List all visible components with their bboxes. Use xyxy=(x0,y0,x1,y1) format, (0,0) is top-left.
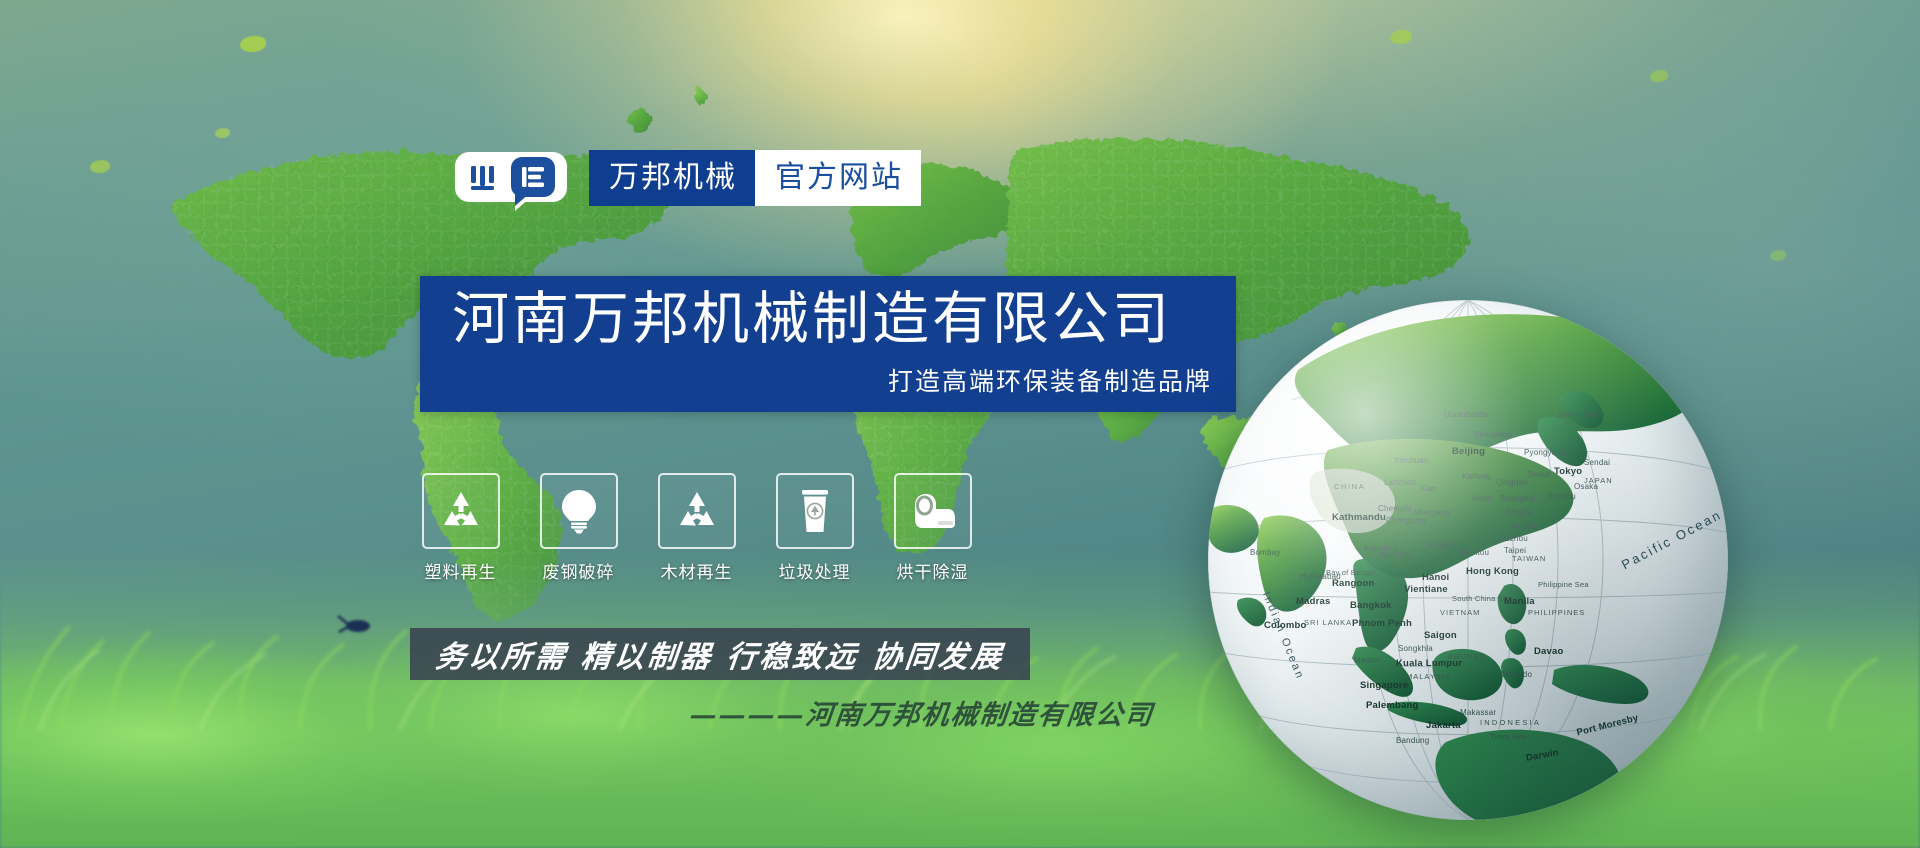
globe-label-malaysia: MALAYSIA xyxy=(1406,672,1451,681)
globe-city-label: Pyongyang xyxy=(1524,448,1566,457)
globe-city-label: Osaka xyxy=(1574,482,1598,491)
service-label: 垃圾处理 xyxy=(772,558,857,583)
globe-city-label: Hong Kong xyxy=(1466,566,1519,577)
globe-city-label: Hanoi xyxy=(1422,572,1449,583)
slogan-attribution: ————河南万邦机械制造有限公司 xyxy=(688,693,1156,732)
service-item-drying-dehumidify[interactable]: 烘干除湿 xyxy=(890,473,975,583)
globe-city-label: Xian xyxy=(1420,484,1437,493)
globe-city-label: Yinchuan xyxy=(1394,456,1429,465)
globe-city-label: Makassar xyxy=(1460,708,1496,717)
globe-city-label: Bandung xyxy=(1396,736,1429,745)
slogan-text: 务以所需 精以制器 行稳致远 协同发展 xyxy=(434,632,1007,676)
globe-label-vietnam: VIETNAM xyxy=(1440,608,1480,617)
globe-city-label: Guiyang xyxy=(1426,540,1457,549)
globe-city-label: Kathmandu xyxy=(1332,512,1386,523)
service-label: 烘干除湿 xyxy=(890,558,975,583)
globe-city-label: Kaifeng xyxy=(1462,472,1491,481)
service-label: 木材再生 xyxy=(654,558,739,583)
slogan-bar: 务以所需 精以制器 行稳致远 协同发展 xyxy=(410,628,1030,680)
globe-graphic: Pacific Ocean Indian Ocean South China S… xyxy=(1208,300,1728,820)
globe-city-label: Chongqing xyxy=(1386,516,1427,525)
globe-city-label: Saigon xyxy=(1424,630,1457,641)
globe-city-label: Seoul xyxy=(1528,470,1549,479)
grass-bug xyxy=(336,614,376,636)
official-site-label[interactable]: 官方网站 xyxy=(755,150,921,206)
hero-banner-page: 万邦机械 官方网站 河南万邦机械制造有限公司 打造高端环保装备制造品牌 塑料再生 xyxy=(0,0,1920,848)
globe-city-label: Qingdao xyxy=(1496,478,1528,487)
globe-city-label: Vientiane xyxy=(1404,584,1448,595)
globe-label-sri-lanka: SRI LANKA xyxy=(1304,618,1352,627)
service-item-wood-recycling[interactable]: 木材再生 xyxy=(654,473,739,583)
globe-label-south-china-sea: South China Sea xyxy=(1452,594,1512,603)
globe-city-label: Ningbo xyxy=(1506,508,1533,517)
globe-city-label: Kyushu xyxy=(1548,492,1576,501)
globe-city-label: Jakarta xyxy=(1426,720,1461,731)
globe-label-philippine-sea: Philippine Sea xyxy=(1538,580,1589,589)
globe-city-label: Shantou xyxy=(1458,548,1489,557)
service-item-steel-crushing[interactable]: 废钢破碎 xyxy=(536,473,621,583)
logo-b-glyph xyxy=(521,166,545,188)
globe-city-label: Ulaanbaatar xyxy=(1444,410,1490,419)
service-label: 废钢破碎 xyxy=(536,558,621,583)
globe-city-label: Wenzhou xyxy=(1508,522,1543,531)
recycle-icon xyxy=(658,473,736,549)
globe-label-sea-of-japan: Sea of Japan xyxy=(1558,410,1605,419)
page-subtitle: 打造高端环保装备制造品牌 xyxy=(888,362,1212,398)
globe-label-timor-sea: Timor Sea xyxy=(1490,732,1526,741)
globe-city-label: Hyderabad xyxy=(1300,572,1341,581)
globe-label-indonesia: INDONESIA xyxy=(1480,718,1541,727)
globe-city-label: Taipei xyxy=(1504,546,1526,555)
globe-label-philippines: PHILIPPINES xyxy=(1528,608,1585,617)
globe-city-label: Fuzhou xyxy=(1500,534,1528,543)
globe-city-label: Davao xyxy=(1534,646,1564,657)
globe-city-label: Palembang xyxy=(1366,700,1418,711)
globe-city-label: Bombay xyxy=(1250,548,1281,557)
globe-city-label: Phnom Penh xyxy=(1352,618,1412,629)
page-title: 河南万邦机械制造有限公司 xyxy=(452,290,1172,350)
globe-label-taiwan: TAIWAN xyxy=(1512,554,1546,563)
globe-label-china: CHINA xyxy=(1334,482,1365,491)
globe-city-label: Manado xyxy=(1502,670,1532,679)
globe-city-label: Shanghai xyxy=(1500,494,1535,503)
service-item-plastic-recycling[interactable]: 塑料再生 xyxy=(418,473,503,583)
globe-city-label: Madras xyxy=(1296,596,1330,607)
logo-b-square xyxy=(511,157,555,197)
blower-dryer-icon xyxy=(894,473,972,549)
globe-sphere: Pacific Ocean Indian Ocean South China S… xyxy=(1208,300,1728,820)
globe-city-label: Tokyo xyxy=(1554,466,1582,477)
globe-city-label: Colombo xyxy=(1264,620,1307,631)
service-item-waste-treatment[interactable]: 垃圾处理 xyxy=(772,473,857,583)
globe-city-label: Beijing xyxy=(1452,446,1485,457)
globe-city-label: Bangkok xyxy=(1350,600,1392,611)
globe-city-label: Nanning xyxy=(1380,550,1411,559)
globe-city-label: Manila xyxy=(1504,596,1535,607)
service-label: 塑料再生 xyxy=(418,558,503,583)
globe-city-label: Medan xyxy=(1354,656,1379,665)
globe-city-label: Lanzhou xyxy=(1384,478,1416,487)
globe-city-label: Shenyang xyxy=(1474,430,1512,439)
globe-city-label: Kuala Lumpur xyxy=(1396,658,1462,669)
brand-header: 万邦机械 官方网站 xyxy=(455,150,921,206)
service-icon-row: 塑料再生 废钢破碎 xyxy=(418,473,975,583)
globe-city-label: Songkhla xyxy=(1398,644,1433,653)
logo-w-glyph xyxy=(469,164,503,192)
wb-logo-icon[interactable] xyxy=(455,152,567,204)
company-short-name[interactable]: 万邦机械 xyxy=(589,150,755,206)
trash-bin-icon xyxy=(776,473,854,549)
globe-city-label: Sendai xyxy=(1584,458,1610,467)
recycle-icon xyxy=(422,473,500,549)
lightbulb-icon xyxy=(540,473,618,549)
globe-city-label: Hefei xyxy=(1472,494,1492,503)
globe-city-label: Singapore xyxy=(1360,680,1408,691)
hero-title-banner: 河南万邦机械制造有限公司 打造高端环保装备制造品牌 xyxy=(420,276,1236,412)
